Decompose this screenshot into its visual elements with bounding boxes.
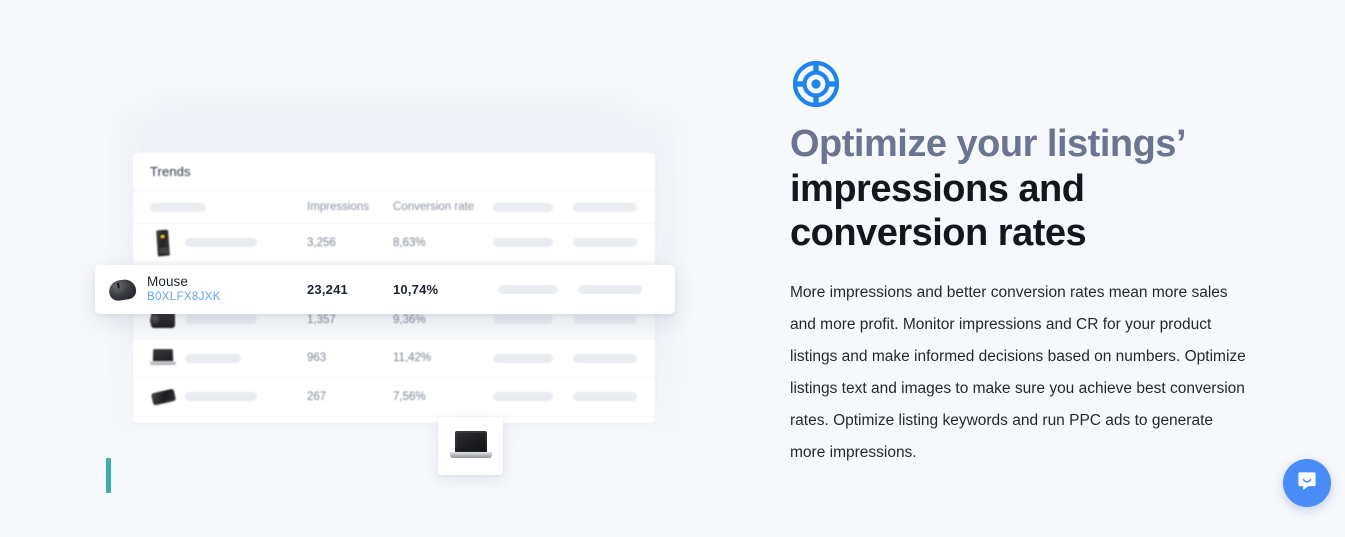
row-extra-1 [493, 392, 573, 401]
placeholder-bar [493, 392, 553, 401]
placeholder-bar [493, 238, 553, 247]
laptop-icon [450, 431, 492, 461]
column-header-impressions: Impressions [307, 201, 393, 213]
laptop-icon [150, 344, 176, 372]
highlighted-extra-1 [498, 285, 578, 294]
highlighted-extra-2 [578, 285, 658, 294]
floating-product-card [438, 417, 503, 475]
product-name: Mouse [147, 274, 221, 290]
row-impressions: 1,357 [307, 314, 393, 326]
placeholder-bar [573, 392, 637, 401]
placeholder-bar [493, 315, 553, 324]
placeholder-bar [493, 203, 553, 212]
table-row[interactable]: 963 11,42% [133, 340, 655, 379]
highlighted-product-cell: Mouse B0XLFX8JXK [95, 274, 307, 304]
row-product-cell [133, 383, 307, 411]
placeholder-bar [185, 354, 241, 363]
placeholder-bar [573, 315, 637, 324]
product-asin-link[interactable]: B0XLFX8JXK [147, 291, 221, 305]
dashboard-preview-visual: Trends Impressions Conversion rate [0, 0, 760, 537]
highlighted-product-names: Mouse B0XLFX8JXK [147, 274, 221, 304]
table-row[interactable]: 267 7,56% [133, 378, 655, 417]
row-product-cell [133, 229, 307, 257]
placeholder-bar [185, 315, 257, 324]
trends-card-title: Trends [150, 164, 191, 179]
row-impressions: 963 [307, 352, 393, 364]
row-impressions: 3,256 [307, 237, 393, 249]
headline-muted-part: Optimize your listings’ [790, 123, 1184, 165]
row-conversion-rate: 7,56% [393, 391, 493, 403]
row-extra-2 [573, 392, 655, 401]
row-conversion-rate: 8,63% [393, 237, 493, 249]
placeholder-bar [573, 203, 637, 212]
table-row[interactable]: 3,256 8,63% [133, 224, 655, 263]
phone-icon [150, 383, 176, 411]
placeholder-bar [573, 238, 637, 247]
highlighted-product-row[interactable]: Mouse B0XLFX8JXK 23,241 10,74% [95, 265, 675, 314]
row-extra-2 [573, 354, 655, 363]
teal-accent-bar [106, 458, 111, 493]
placeholder-bar [578, 285, 642, 294]
column-header-extra-1 [493, 203, 573, 212]
row-conversion-rate: 11,42% [393, 352, 493, 364]
placeholder-bar [185, 392, 257, 401]
placeholder-bar [573, 354, 637, 363]
column-header-conversion-rate: Conversion rate [393, 201, 493, 213]
row-extra-1 [493, 238, 573, 247]
placeholder-bar [493, 354, 553, 363]
target-crosshair-icon [793, 61, 839, 107]
chat-launcher-button[interactable] [1283, 459, 1331, 507]
placeholder-bar [185, 238, 257, 247]
placeholder-bar [150, 203, 206, 212]
highlighted-conversion-rate: 10,74% [393, 282, 498, 297]
trends-table-header-row: Impressions Conversion rate [133, 191, 655, 224]
trends-card-header: Trends [133, 153, 655, 191]
row-impressions: 267 [307, 391, 393, 403]
feature-description: More impressions and better conversion r… [790, 277, 1250, 469]
column-header-product [133, 203, 307, 212]
headline-strong-part: impressions and conversion rates [790, 168, 1086, 255]
feature-text-column: Optimize your listings’ impressions and … [790, 0, 1260, 537]
row-product-cell [133, 344, 307, 372]
computer-mouse-icon [107, 274, 137, 304]
row-conversion-rate: 9,36% [393, 314, 493, 326]
chat-bubble-smile-icon [1295, 469, 1319, 498]
placeholder-bar [498, 285, 558, 294]
row-extra-1 [493, 315, 573, 324]
row-extra-1 [493, 354, 573, 363]
barcode-scanner-icon [150, 229, 176, 257]
highlighted-impressions: 23,241 [307, 282, 393, 297]
column-header-extra-2 [573, 203, 655, 212]
page-title: Optimize your listings’ impressions and … [790, 122, 1250, 256]
row-extra-2 [573, 315, 655, 324]
row-extra-2 [573, 238, 655, 247]
